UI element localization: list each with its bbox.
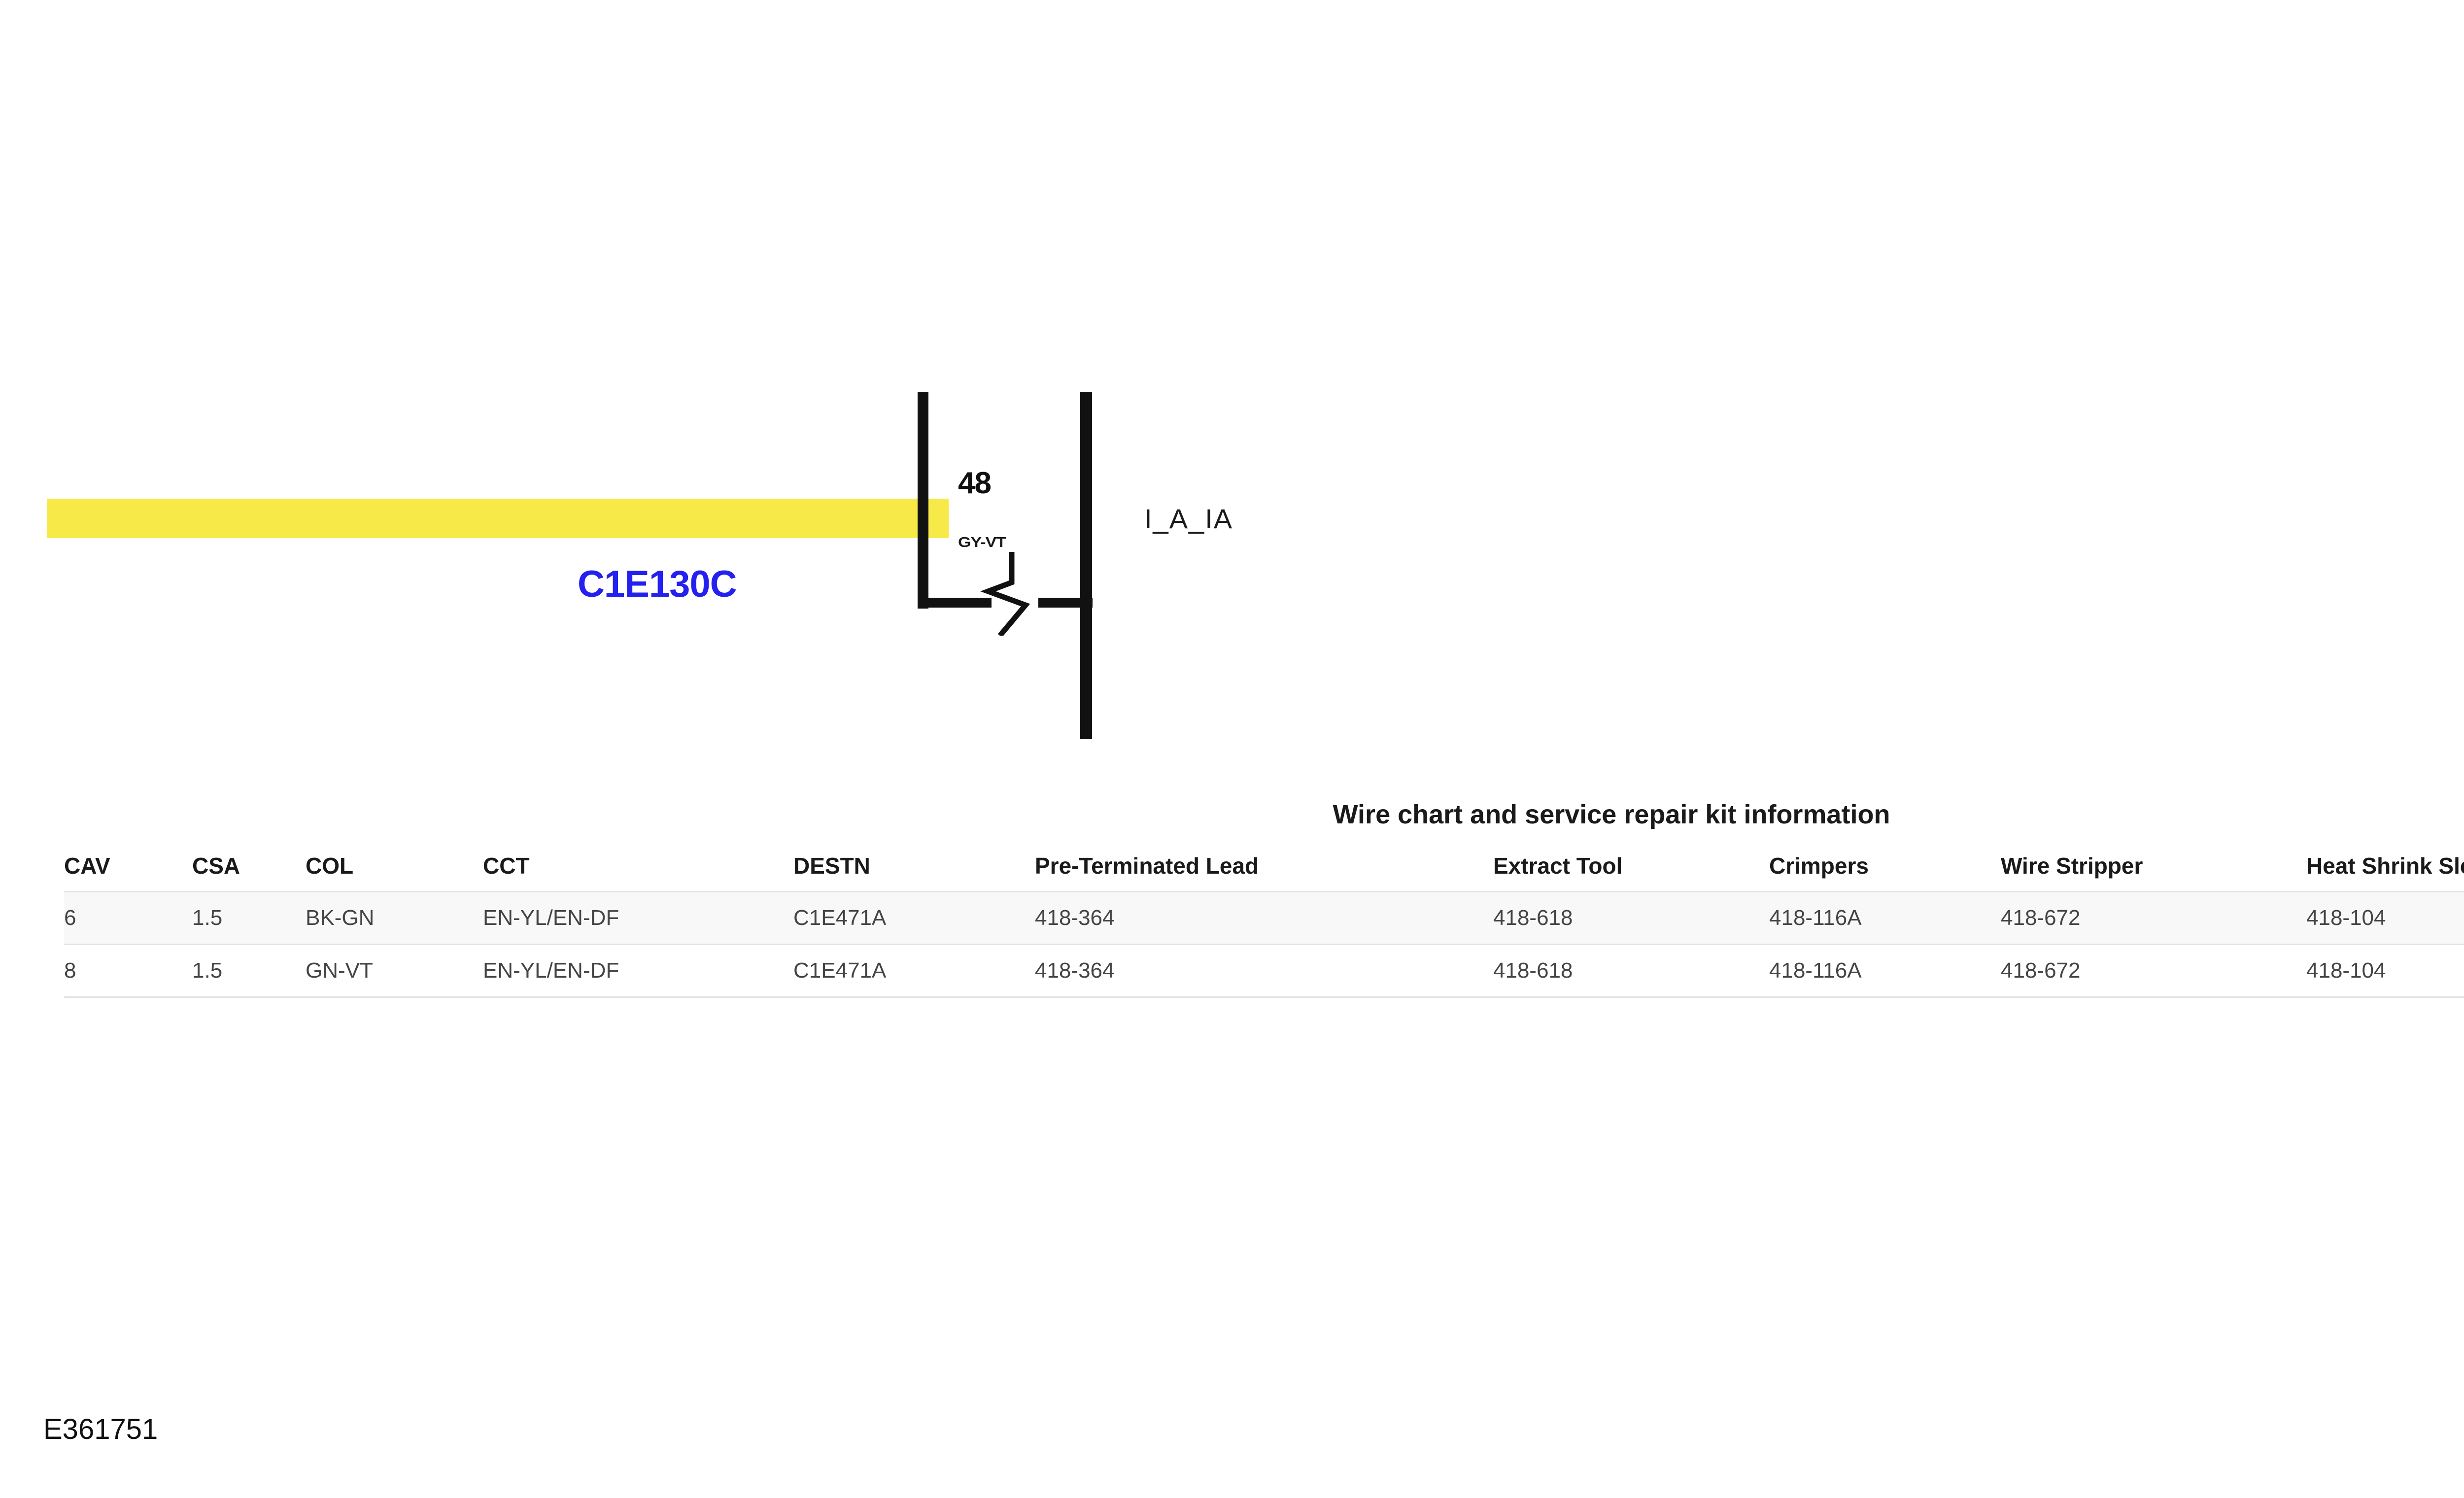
connector-right-bus-bar (1080, 392, 1092, 739)
cell-csa: 1.5 (192, 945, 306, 997)
wiring-diagram: 48 GY-VT C1E130C I_A_IA (0, 0, 2464, 739)
cell-crimpers: 418-116A (1769, 945, 2001, 997)
wire-chart-panel: Wire chart and service repair kit inform… (0, 759, 2464, 1119)
column-header-wire-stripper: Wire Stripper (2001, 844, 2306, 892)
cell-cct: EN-YL/EN-DF (483, 945, 793, 997)
column-header-destn: DESTN (793, 844, 1035, 892)
cell-destn: C1E471A (793, 945, 1035, 997)
cell-csa: 1.5 (192, 892, 306, 945)
table-row: 6 1.5 BK-GN EN-YL/EN-DF C1E471A 418-364 … (64, 892, 2464, 945)
column-header-col: COL (306, 844, 483, 892)
wire-chart-title: Wire chart and service repair kit inform… (0, 801, 2464, 828)
connector-left-post (918, 392, 928, 609)
column-header-csa: CSA (192, 844, 306, 892)
circuit-id-label: C1E130C (578, 566, 737, 603)
cavity-number-label: 48 (958, 468, 991, 499)
cell-cct: EN-YL/EN-DF (483, 892, 793, 945)
splice-zigzag-icon (978, 552, 1052, 636)
cell-col: BK-GN (306, 892, 483, 945)
cell-cav: 8 (64, 945, 192, 997)
column-header-crimpers: Crimpers (1769, 844, 2001, 892)
figure-id-label: E361751 (43, 1415, 158, 1444)
column-header-cct: CCT (483, 844, 793, 892)
cell-col: GN-VT (306, 945, 483, 997)
cell-destn: C1E471A (793, 892, 1035, 945)
wire-chart-table: CAV CSA COL CCT DESTN Pre-Terminated Lea… (64, 844, 2464, 998)
cell-extract-tool: 418-618 (1493, 892, 1769, 945)
table-row: 8 1.5 GN-VT EN-YL/EN-DF C1E471A 418-364 … (64, 945, 2464, 997)
wire-color-code-label: GY-VT (958, 535, 1006, 549)
column-header-extract-tool: Extract Tool (1493, 844, 1769, 892)
cell-heat-shrink-sleeve: 418-104 (2306, 945, 2464, 997)
column-header-pre-terminated-lead: Pre-Terminated Lead (1035, 844, 1493, 892)
cell-crimpers: 418-116A (1769, 892, 2001, 945)
column-header-cav: CAV (64, 844, 192, 892)
cell-heat-shrink-sleeve: 418-104 (2306, 892, 2464, 945)
cell-extract-tool: 418-618 (1493, 945, 1769, 997)
highlighted-wire-run (47, 499, 949, 538)
cell-wire-stripper: 418-672 (2001, 892, 2306, 945)
cell-cav: 6 (64, 892, 192, 945)
table-header-row: CAV CSA COL CCT DESTN Pre-Terminated Lea… (64, 844, 2464, 892)
cell-wire-stripper: 418-672 (2001, 945, 2306, 997)
column-header-heat-shrink-sleeve: Heat Shrink Sleeve (2306, 844, 2464, 892)
cell-pre-terminated-lead: 418-364 (1035, 892, 1493, 945)
cell-pre-terminated-lead: 418-364 (1035, 945, 1493, 997)
harness-designation-label: I_A_IA (1144, 505, 1233, 533)
